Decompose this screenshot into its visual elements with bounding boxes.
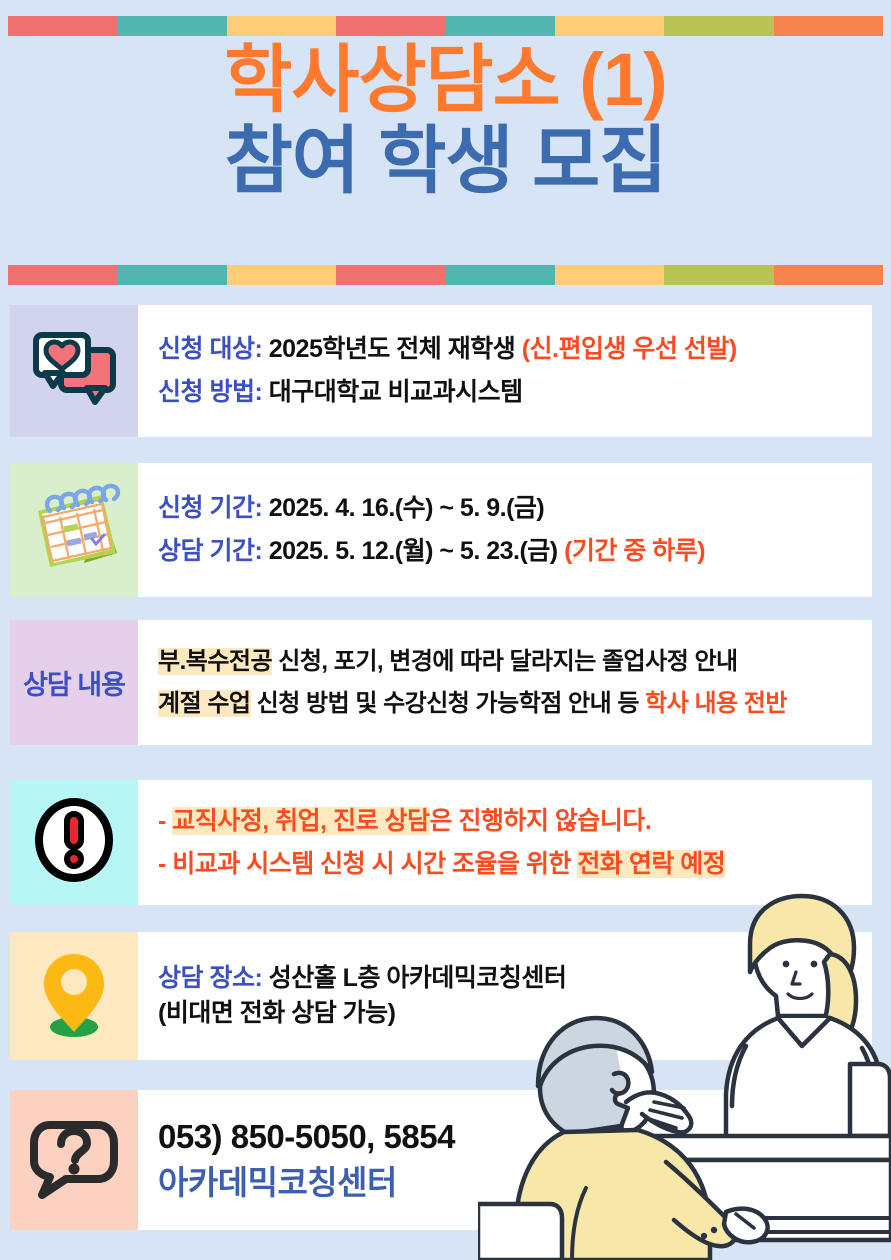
line-content-season: 계절 수업 신청 방법 및 수강신청 가능학점 안내 등 학사 내용 전반 <box>158 690 872 718</box>
value-content-season: 신청 방법 및 수강신청 가능학점 안내 등 <box>251 690 646 717</box>
stripe-segment-1 <box>8 16 117 36</box>
bottom-color-stripe <box>8 265 883 285</box>
line-content-major: 부.복수전공 신청, 포기, 변경에 따라 달라지는 졸업사정 안내 <box>158 648 872 676</box>
value-content-major: 신청, 포기, 변경에 따라 달라지는 졸업사정 안내 <box>272 648 738 675</box>
dash-notice-1: - <box>158 807 172 835</box>
note-content-general: 학사 내용 전반 <box>645 690 787 717</box>
label-location: 상담 장소: <box>158 964 262 992</box>
stripe-segment-1 <box>8 265 117 285</box>
info-row-period-body: 신청 기간: 2025. 4. 16.(수) ~ 5. 9.(금) 상담 기간:… <box>138 463 872 597</box>
value-phone-number: 053) 850-5050, 5854 <box>158 1118 455 1155</box>
info-row-notice: - 교직사정, 취업, 진로 상담은 진행하지 않습니다. - 비교과 시스템 … <box>10 780 872 905</box>
line-location: 상담 장소: 성산홀 L층 아카데믹코칭센터 <box>158 964 872 993</box>
label-application-target: 신청 대상: <box>158 335 262 363</box>
line-application-period: 신청 기간: 2025. 4. 16.(수) ~ 5. 9.(금) <box>158 494 872 523</box>
location-pin-icon-box <box>10 932 138 1060</box>
title-line-1: 학사상담소 (1) <box>0 42 891 117</box>
info-row-application: 신청 대상: 2025학년도 전체 재학생 (신.편입생 우선 선발) 신청 방… <box>10 305 872 437</box>
line-location-note: (비대면 전화 상담 가능) <box>158 999 872 1028</box>
highlight-double-major: 부.복수전공 <box>158 648 272 675</box>
info-row-contact-body: 053) 850-5050, 5854 아카데믹코칭센터 <box>138 1090 872 1230</box>
line-application-method: 신청 방법: 대구대학교 비교과시스템 <box>158 378 872 407</box>
counseling-content-label-box: 상담 내용 <box>10 620 138 745</box>
value-center-name: 아카데믹코칭센터 <box>158 1164 397 1201</box>
info-row-location: 상담 장소: 성산홀 L층 아카데믹코칭센터 (비대면 전화 상담 가능) <box>10 932 872 1060</box>
stripe-segment-2 <box>117 16 226 36</box>
stripe-segment-3 <box>227 265 336 285</box>
info-row-application-body: 신청 대상: 2025학년도 전체 재학생 (신.편입생 우선 선발) 신청 방… <box>138 305 872 437</box>
value-application-period: 2025. 4. 16.(수) ~ 5. 9.(금) <box>262 494 544 522</box>
stripe-segment-5 <box>446 265 555 285</box>
stripe-segment-7 <box>664 16 773 36</box>
top-color-stripe <box>8 16 883 36</box>
line-application-target: 신청 대상: 2025학년도 전체 재학생 (신.편입생 우선 선발) <box>158 335 872 364</box>
label-application-period: 신청 기간: <box>158 494 262 522</box>
value-location: 성산홀 L층 아카데믹코칭센터 <box>262 964 566 992</box>
desk-calendar-icon-box <box>10 463 138 597</box>
line-counseling-period: 상담 기간: 2025. 5. 12.(월) ~ 5. 23.(금) (기간 중… <box>158 537 872 566</box>
chat-heart-icon <box>31 330 117 413</box>
info-row-notice-body: - 교직사정, 취업, 진로 상담은 진행하지 않습니다. - 비교과 시스템 … <box>138 780 872 905</box>
line-notice-1: - 교직사정, 취업, 진로 상담은 진행하지 않습니다. <box>158 807 872 836</box>
value-counseling-period: 2025. 5. 12.(월) ~ 5. 23.(금) <box>262 537 564 565</box>
label-counseling-period: 상담 기간: <box>158 537 262 565</box>
value-notice-2: 비교과 시스템 신청 시 시간 조율을 위한 <box>172 850 577 878</box>
poster-root: 학사상담소 (1) 참여 학생 모집 신청 대상: 2025학년도 전체 재학생… <box>0 0 891 1260</box>
chat-heart-icon-box <box>10 305 138 437</box>
line-phone-number: 053) 850-5050, 5854 <box>158 1118 872 1156</box>
desk-calendar-icon <box>22 481 126 580</box>
location-pin-icon <box>33 948 115 1045</box>
stripe-segment-7 <box>664 265 773 285</box>
info-row-period: 신청 기간: 2025. 4. 16.(수) ~ 5. 9.(금) 상담 기간:… <box>10 463 872 597</box>
highlight-phone-contact: 전화 연락 예정 <box>577 850 725 878</box>
stripe-segment-6 <box>555 265 664 285</box>
note-application-target: (신.편입생 우선 선발) <box>522 335 737 363</box>
question-bubble-icon <box>28 1117 120 1204</box>
line-notice-2: - 비교과 시스템 신청 시 시간 조율을 위한 전화 연락 예정 <box>158 850 872 879</box>
label-application-method: 신청 방법: <box>158 378 262 406</box>
value-notice-1: 은 진행하지 않습니다. <box>430 807 652 835</box>
highlight-seasonal-class: 계절 수업 <box>158 690 251 717</box>
value-application-method: 대구대학교 비교과시스템 <box>262 378 522 406</box>
stripe-segment-8 <box>774 16 883 36</box>
question-bubble-icon-box <box>10 1090 138 1230</box>
stripe-segment-4 <box>336 265 445 285</box>
stripe-segment-4 <box>336 16 445 36</box>
stripe-segment-2 <box>117 265 226 285</box>
title-line-2: 참여 학생 모집 <box>0 123 891 198</box>
counseling-content-label: 상담 내용 <box>23 663 125 702</box>
exclamation-circle-icon-box <box>10 780 138 905</box>
info-row-contact: 053) 850-5050, 5854 아카데믹코칭센터 <box>10 1090 872 1230</box>
value-location-note: (비대면 전화 상담 가능) <box>158 999 396 1027</box>
value-application-target: 2025학년도 전체 재학생 <box>262 335 521 363</box>
stripe-segment-8 <box>774 265 883 285</box>
note-counseling-period: (기간 중 하루) <box>564 537 705 565</box>
stripe-segment-5 <box>446 16 555 36</box>
stripe-segment-3 <box>227 16 336 36</box>
info-row-location-body: 상담 장소: 성산홀 L층 아카데믹코칭센터 (비대면 전화 상담 가능) <box>138 932 872 1060</box>
exclamation-circle-icon <box>32 796 116 889</box>
info-row-content-body: 부.복수전공 신청, 포기, 변경에 따라 달라지는 졸업사정 안내 계절 수업… <box>138 620 872 745</box>
highlight-excluded-topics: 교직사정, 취업, 진로 상담 <box>172 807 429 835</box>
stripe-segment-6 <box>555 16 664 36</box>
line-center-name: 아카데믹코칭센터 <box>158 1164 872 1202</box>
dash-notice-2: - <box>158 850 172 878</box>
info-row-content: 상담 내용 부.복수전공 신청, 포기, 변경에 따라 달라지는 졸업사정 안내… <box>10 620 872 745</box>
poster-title: 학사상담소 (1) 참여 학생 모집 <box>0 42 891 199</box>
